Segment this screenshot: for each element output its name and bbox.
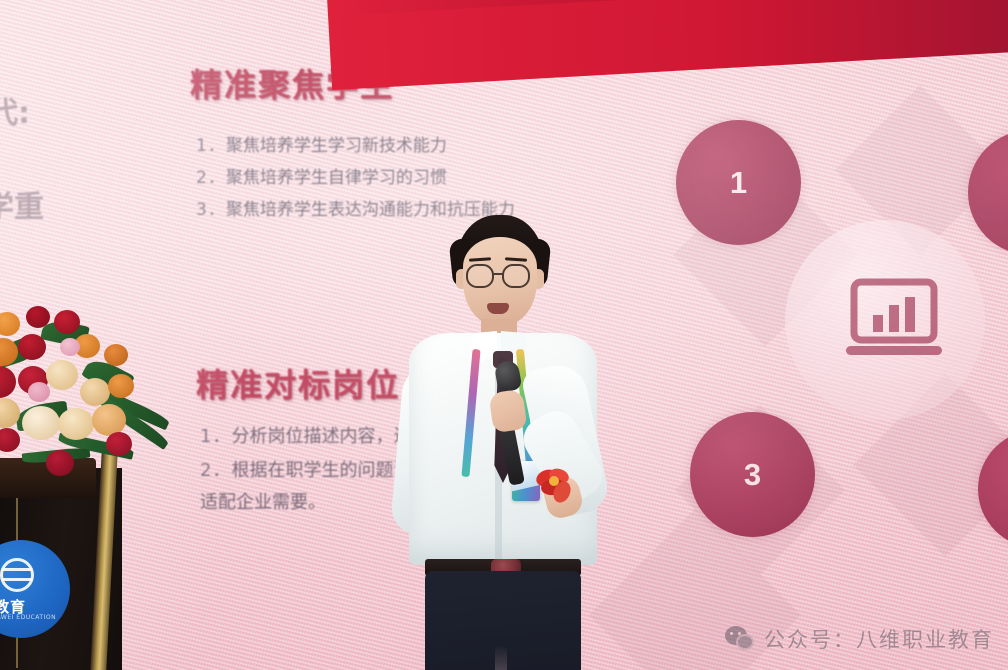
red-ribbon-flower [531, 465, 577, 505]
flower-bloom [0, 366, 16, 398]
wechat-icon [725, 626, 755, 652]
stage-photo: 1 3 代: 学重 精准聚焦学生 1．聚焦培养学生学习新技术能力 2．聚焦培养学… [0, 0, 1008, 670]
watermark-text: 公众号：八维职业教育 [764, 624, 994, 654]
flower-arrangement [0, 282, 178, 492]
trouser-leg-gap [495, 645, 507, 670]
flower-bloom [0, 312, 20, 336]
speaker-person [395, 215, 610, 670]
podium-logo-subtext: BAWEI EDUCATION [0, 614, 66, 621]
glasses-lens-left [466, 264, 494, 288]
podium-logo-bar [2, 578, 32, 581]
flower-bloom [80, 378, 110, 406]
flower-bloom [104, 344, 128, 366]
flower-bloom [54, 310, 80, 334]
flower-bloom [18, 334, 46, 360]
wechat-bubble-small [736, 634, 754, 650]
channel-watermark: 公众号：八维职业教育 [725, 624, 994, 654]
wechat-dot [738, 632, 741, 635]
podium-logo-bar [2, 568, 32, 571]
glasses-bridge [493, 273, 504, 275]
flower-bloom [22, 406, 60, 440]
podium-logo-circle-mark [0, 558, 34, 592]
flower-bloom [46, 360, 78, 390]
flower-bloom [28, 382, 50, 402]
flower-bloom [60, 338, 80, 356]
flower-bloom [106, 432, 132, 456]
flower-bloom [0, 428, 20, 452]
speaker-mouth [487, 303, 509, 314]
flower-bloom [26, 306, 50, 328]
flower-bloom [108, 374, 134, 398]
flower-bloom [46, 450, 74, 476]
flower-bloom [58, 408, 94, 440]
glasses-lens-right [502, 264, 530, 288]
wechat-dot [730, 632, 733, 635]
